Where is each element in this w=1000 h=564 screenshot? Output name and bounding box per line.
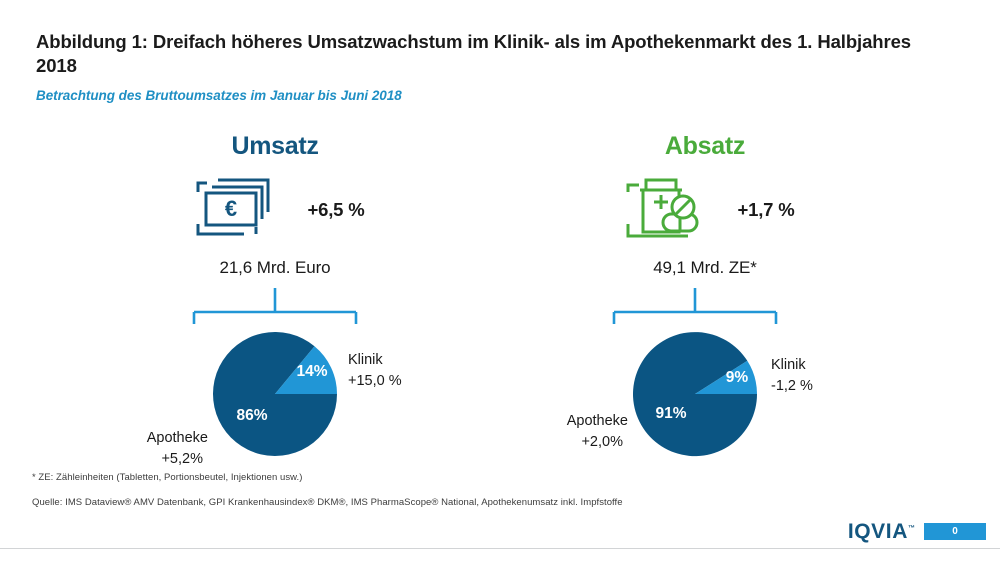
- pie-chart-absatz: 9% 91% Klinik -1,2 % Apotheke +2,0%: [490, 324, 920, 464]
- footer-divider: [0, 548, 1000, 549]
- panel-umsatz: Umsatz €: [60, 120, 490, 470]
- panel-absatz-total: 49,1 Mrd. ZE*: [490, 258, 920, 278]
- pie-legend-klinik-label: Klinik: [771, 357, 806, 373]
- pie-slice-apotheke-value: 86%: [236, 407, 267, 424]
- pie-legend-klinik-growth: -1,2 %: [771, 378, 813, 394]
- pie-legend-apotheke-growth: +2,0%: [581, 434, 623, 450]
- page-number-badge: 0: [924, 523, 986, 540]
- iqvia-logo-text: IQVIA: [848, 520, 908, 543]
- panel-absatz: Absatz: [490, 120, 920, 470]
- pie-slice-apotheke-value: 91%: [655, 405, 686, 422]
- pill-bottle-icon: [616, 172, 720, 246]
- pie-legend-apotheke-growth: +5,2%: [161, 451, 203, 467]
- pie-legend-apotheke-label: Apotheke: [147, 430, 208, 446]
- panel-absatz-bracket: [490, 288, 920, 326]
- panel-umsatz-growth: +6,5 %: [308, 199, 365, 221]
- svg-text:€: €: [224, 196, 236, 221]
- footnote-source: Quelle: IMS Dataview® AMV Datenbank, GPI…: [32, 497, 623, 508]
- panel-absatz-metric-row: +1,7 %: [490, 172, 920, 246]
- pie-slice-klinik-value: 14%: [296, 363, 327, 380]
- pie-legend-klinik-growth: +15,0 %: [348, 373, 402, 389]
- pie-slice-apotheke: [633, 332, 757, 456]
- footnote-ze: * ZE: Zähleinheiten (Tabletten, Portions…: [32, 472, 302, 483]
- panel-absatz-growth: +1,7 %: [738, 199, 795, 221]
- pie-slice-klinik-value: 9%: [726, 369, 749, 386]
- panel-umsatz-heading: Umsatz: [60, 132, 490, 161]
- iqvia-logo-mark: [813, 521, 839, 542]
- panel-absatz-heading: Absatz: [490, 132, 920, 161]
- pie-legend-apotheke-label: Apotheke: [567, 413, 628, 429]
- panel-umsatz-metric-row: € +6,5 %: [60, 172, 490, 246]
- pie-legend-klinik-label: Klinik: [348, 352, 383, 368]
- page-title: Abbildung 1: Dreifach höheres Umsatzwach…: [36, 30, 916, 79]
- euro-banknotes-icon: €: [186, 172, 290, 246]
- panel-umsatz-bracket: [60, 288, 490, 326]
- slide-canvas: Abbildung 1: Dreifach höheres Umsatzwach…: [0, 0, 1000, 564]
- iqvia-trademark-symbol: ™: [908, 525, 915, 532]
- pie-chart-umsatz: 14% 86% Klinik +15,0 % Apotheke +5,2%: [60, 324, 490, 464]
- iqvia-logo: IQVIA™ 0: [813, 521, 986, 542]
- panel-umsatz-total: 21,6 Mrd. Euro: [60, 258, 490, 278]
- page-subtitle: Betrachtung des Bruttoumsatzes im Januar…: [36, 88, 916, 103]
- iqvia-logo-wordmark: IQVIA™: [848, 521, 915, 542]
